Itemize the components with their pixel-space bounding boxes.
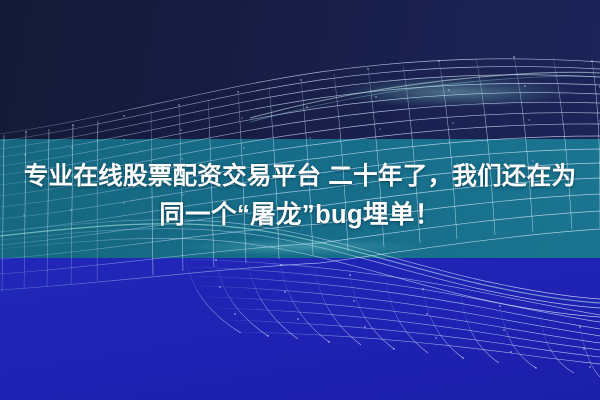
promo-banner: 专业在线股票配资交易平台 二十年了，我们还在为 同一个“屠龙”bug埋单！ xyxy=(0,0,600,400)
wireframe-mesh-graphic xyxy=(0,0,600,400)
